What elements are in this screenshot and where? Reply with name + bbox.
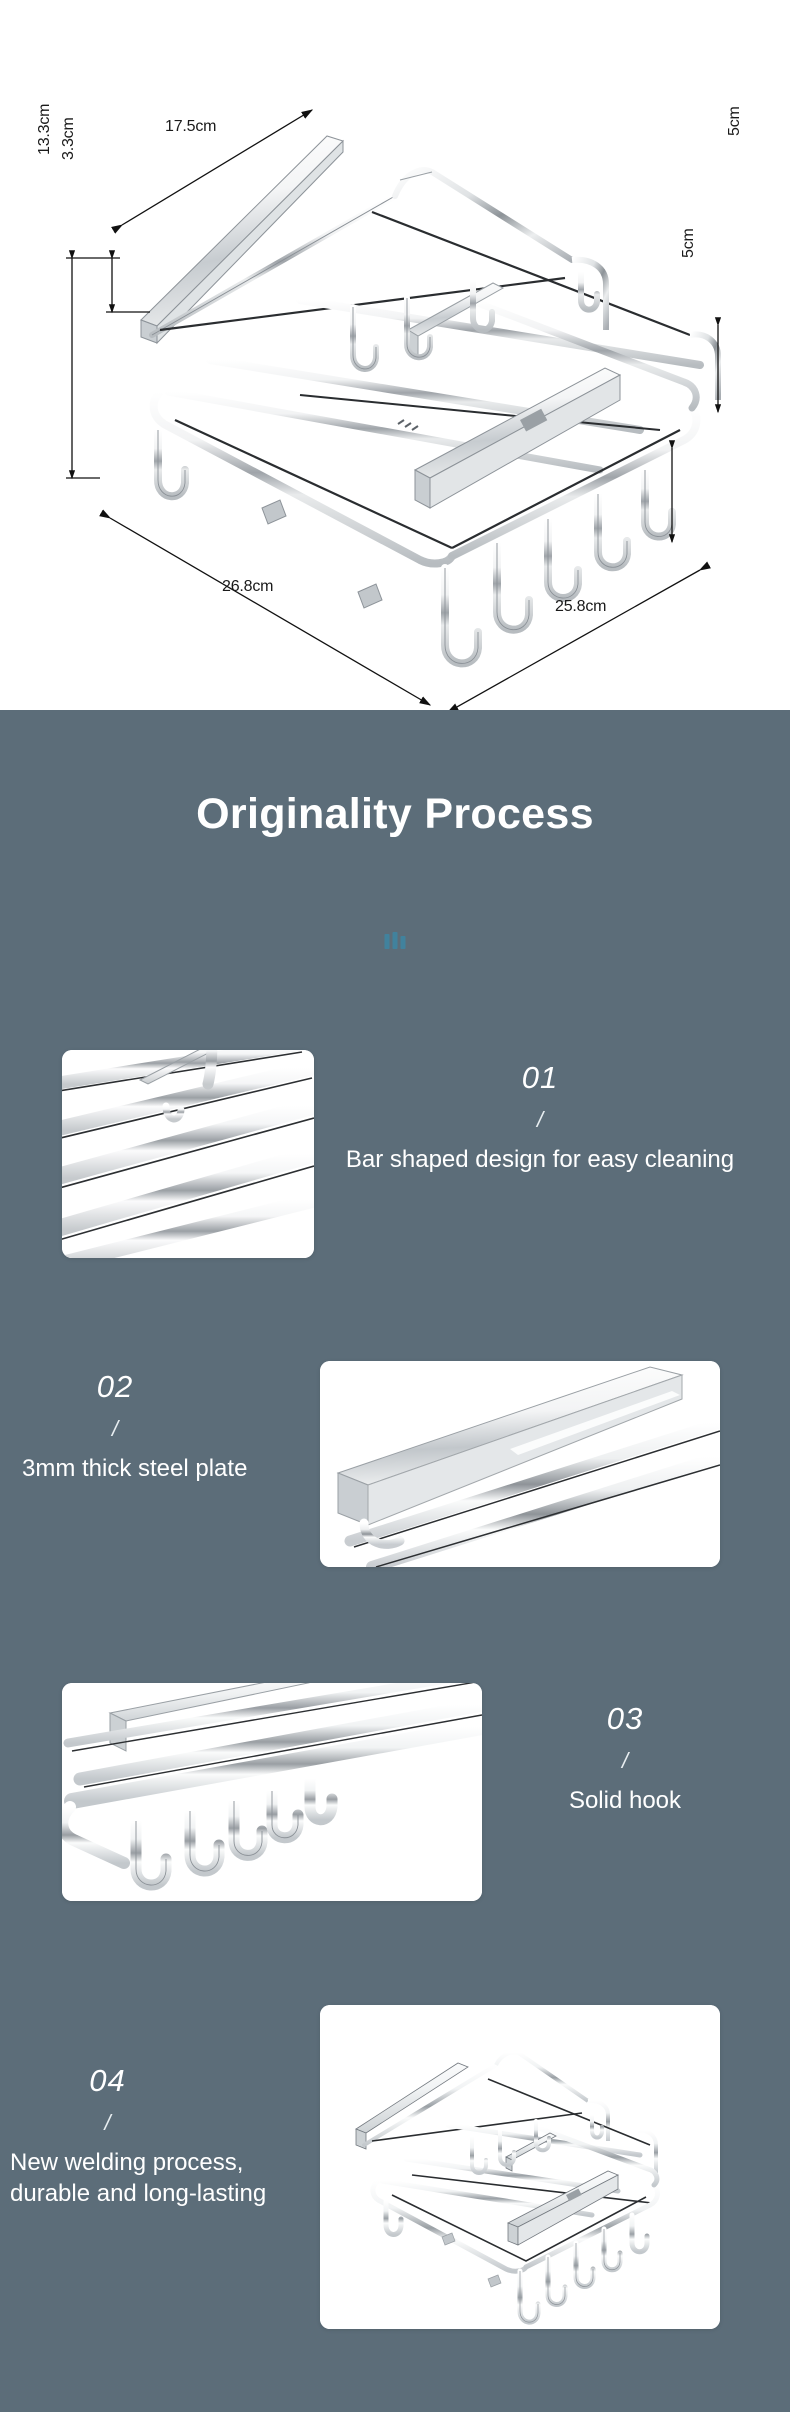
dimension-section: 17.5cm 3.3cm 13.3cm 26.8cm 25.8cm 5cm 5c… xyxy=(0,0,790,710)
dimension-label-bar-height: 3.3cm xyxy=(60,117,78,160)
feature-text-02: 02 / 3mm thick steel plate xyxy=(10,1371,300,1485)
feature-divider-03: / xyxy=(500,1750,750,1772)
originality-process-section: Originality Process xyxy=(0,710,790,2412)
feature-image-04 xyxy=(320,2005,720,2329)
closeup-row-of-hooks-image xyxy=(62,1683,482,1901)
closeup-steel-plate-edge-image xyxy=(320,1361,720,1567)
feature-divider-04: / xyxy=(0,2112,215,2134)
feature-row-01: 01 / Bar shaped design for easy cleaning xyxy=(0,1040,790,1270)
feature-text-03: 03 / Solid hook xyxy=(500,1703,750,1817)
full-rack-product-view-image xyxy=(320,2005,720,2329)
feature-description-03: Solid hook xyxy=(500,1786,750,1817)
section-title: Originality Process xyxy=(0,790,790,839)
dimension-label-width-top-rail: 17.5cm xyxy=(165,118,216,136)
feature-number-01: 01 xyxy=(330,1062,750,1093)
feature-divider-02: / xyxy=(10,1418,220,1440)
feature-number-03: 03 xyxy=(500,1703,750,1734)
feature-text-01: 01 / Bar shaped design for easy cleaning xyxy=(330,1062,750,1176)
feature-image-02 xyxy=(320,1361,720,1567)
closeup-parallel-chrome-bars-image xyxy=(62,1050,314,1258)
feature-image-03 xyxy=(62,1683,482,1901)
feature-row-02: 02 / 3mm thick steel plate xyxy=(0,1355,790,1595)
feature-text-04: 04 / New welding process, durable and lo… xyxy=(0,2065,300,2209)
feature-description-01: Bar shaped design for easy cleaning xyxy=(330,1145,750,1176)
feature-row-03: 03 / Solid hook xyxy=(0,1675,790,1915)
accent-bars-decoration xyxy=(385,932,406,949)
feature-description-04: New welding process, durable and long-la… xyxy=(0,2148,300,2209)
dimension-label-depth-front: 26.8cm xyxy=(222,578,273,596)
product-detail-page: 17.5cm 3.3cm 13.3cm 26.8cm 25.8cm 5cm 5c… xyxy=(0,0,790,2412)
accent-bar-2 xyxy=(393,932,398,949)
feature-number-04: 04 xyxy=(0,2065,215,2096)
dimension-label-right-lower-gap: 5cm xyxy=(680,228,698,258)
feature-image-01 xyxy=(62,1050,314,1258)
rack-line-drawing xyxy=(0,0,790,710)
dimension-diagram: 17.5cm 3.3cm 13.3cm 26.8cm 25.8cm 5cm 5c… xyxy=(0,0,790,710)
accent-bar-3 xyxy=(401,936,406,949)
feature-description-02: 3mm thick steel plate xyxy=(10,1454,300,1485)
feature-row-04: 04 / New welding process, durable and lo… xyxy=(0,1995,790,2330)
accent-bar-1 xyxy=(385,934,390,949)
feature-divider-01: / xyxy=(330,1109,750,1131)
dimension-label-total-height: 13.3cm xyxy=(36,104,54,155)
dimension-label-right-upper-gap: 5cm xyxy=(726,106,744,136)
feature-number-02: 02 xyxy=(10,1371,220,1402)
dimension-label-depth-back: 25.8cm xyxy=(555,598,606,616)
